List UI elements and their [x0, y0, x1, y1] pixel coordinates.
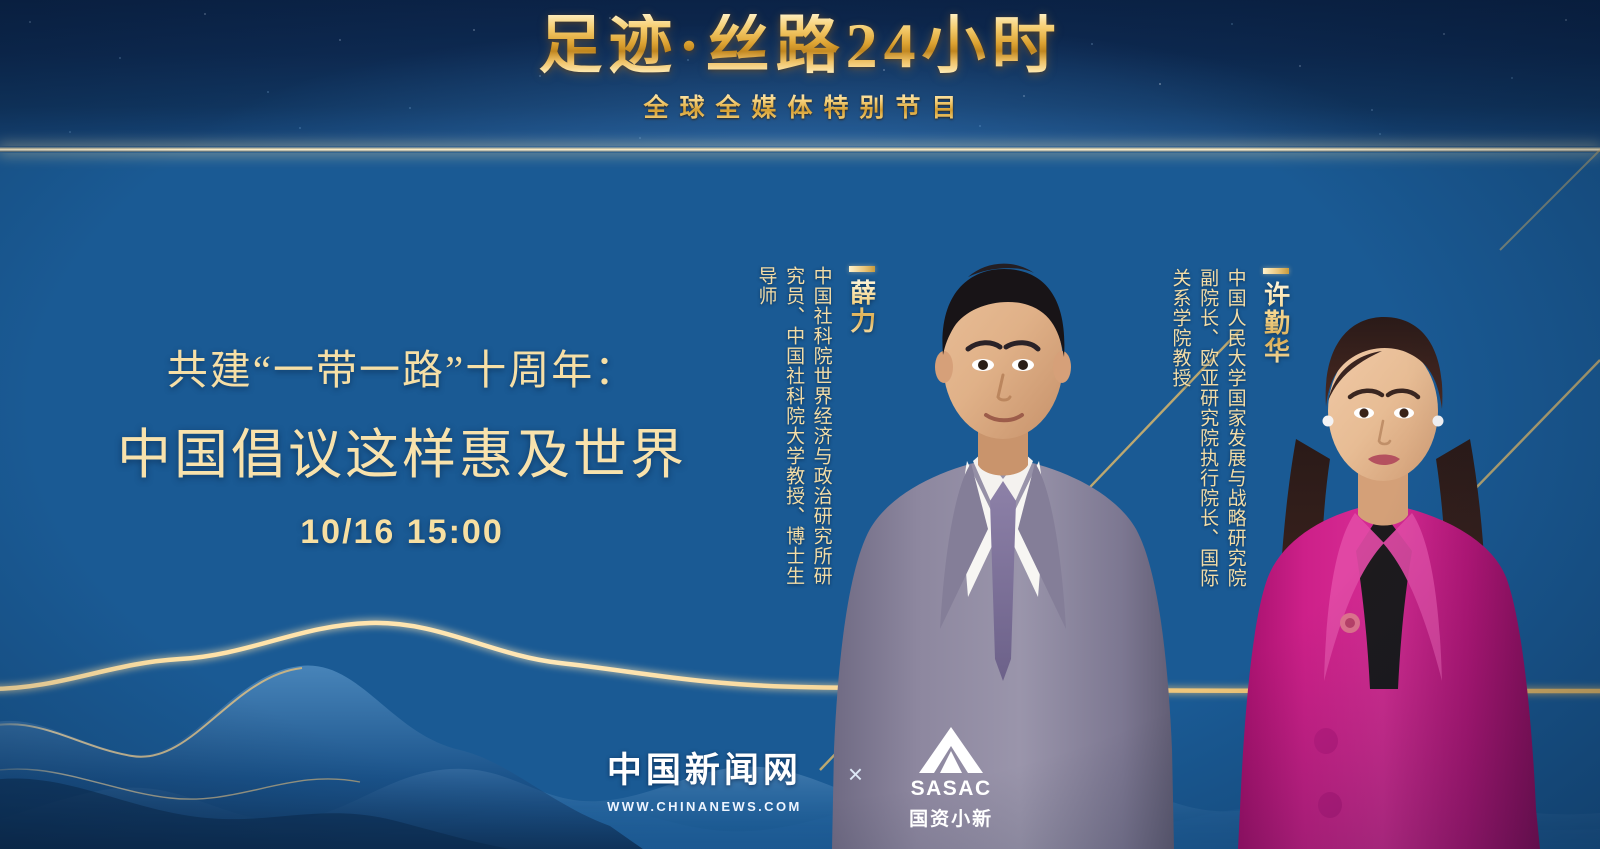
sasac-name-en: SASAC [911, 778, 992, 799]
brand-separator-x: × [848, 759, 863, 790]
guest-name-2: 许勤华 [1258, 281, 1295, 365]
sasac-name-cn: 国资小新 [909, 804, 993, 831]
headline-line-1: 共建“一带一路”十周年： [52, 336, 752, 396]
guest-title-1: 中国社科院世界经济与政治研究所研究员、中国社科院大学教授、博士生导师 [752, 266, 835, 596]
chinanews-name: 中国新闻网 [607, 742, 802, 793]
program-logo-title: 足迹·丝路24小时 [0, 14, 1600, 78]
chinanews-url: WWW.CHINANEWS.COM [607, 799, 802, 814]
headline-block: 共建“一带一路”十周年： 中国倡议这样惠及世界 10/16 15:00 [52, 336, 752, 552]
guest-name-1: 薛力 [844, 279, 881, 335]
guest-caption-1: 薛力 中国社科院世界经济与政治研究所研究员、中国社科院大学教授、博士生导师 [752, 266, 881, 596]
headline-line-2: 中国倡议这样惠及世界 [52, 410, 752, 489]
guest-title-2: 中国人民大学国家发展与战略研究院副院长、欧亚研究院执行院长、国际关系学院教授 [1166, 268, 1249, 598]
footer-brand-bar: 中国新闻网 WWW.CHINANEWS.COM × SASAC 国资小新 [0, 724, 1600, 831]
chinanews-logo: 中国新闻网 WWW.CHINANEWS.COM [607, 742, 802, 814]
sasac-logo: SASAC 国资小新 [909, 724, 993, 831]
promo-poster: 足迹·丝路24小时 全球全媒体特别节目 共建“一带一路”十周年： 中国倡议这样惠… [0, 0, 1600, 849]
broadcast-time: 10/16 15:00 [52, 513, 752, 552]
guest-name-dash-icon [849, 266, 875, 272]
guest-name-column-2: 许勤华 [1258, 268, 1295, 365]
guest-name-dash-icon [1263, 268, 1289, 274]
sasac-triangle-icon [916, 724, 986, 776]
program-logo: 足迹·丝路24小时 全球全媒体特别节目 [0, 14, 1600, 124]
guest-caption-2: 许勤华 中国人民大学国家发展与战略研究院副院长、欧亚研究院执行院长、国际关系学院… [1166, 268, 1295, 598]
program-logo-subtitle: 全球全媒体特别节目 [0, 88, 1600, 124]
guest-name-column-1: 薛力 [844, 266, 881, 335]
